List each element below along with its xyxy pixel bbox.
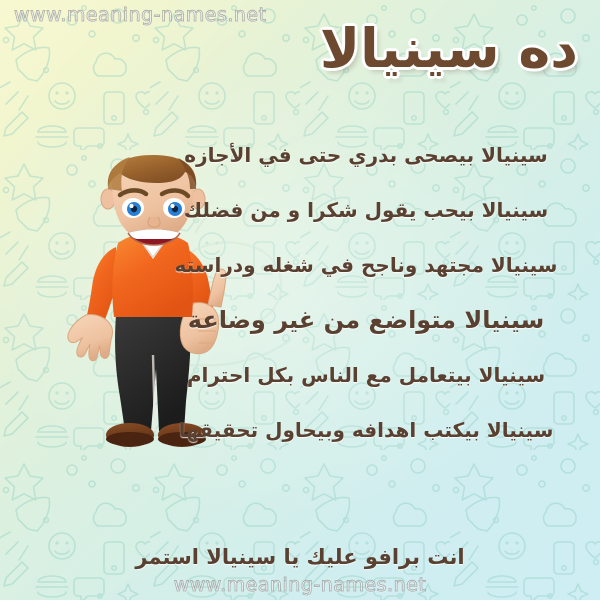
page-title: ده سينيالا bbox=[320, 18, 578, 80]
phrase-line: سينيالا بيصحى بدري حتى في الأجازه bbox=[150, 128, 582, 183]
watermark-top: www.meaning-names.net bbox=[14, 4, 267, 26]
phrase-line: سينيالا مجتهد وناجح في شغله ودراسته bbox=[150, 238, 582, 293]
phrase-list: سينيالا بيصحى بدري حتى في الأجازه سينيال… bbox=[150, 128, 582, 458]
name-meaning-poster: www.meaning-names.net ده سينيالا bbox=[0, 0, 600, 600]
phrase-line: سينيالا بيكتب اهدافه وبيحاول تحقيقها bbox=[150, 403, 582, 458]
closing-line: انت برافو عليك يا سينيالا استمر bbox=[0, 545, 600, 569]
phrase-line: سينيالا بيحب يقول شكرا و من فضلك bbox=[150, 183, 582, 238]
phrase-line: سينيالا بيتعامل مع الناس بكل احترام bbox=[150, 348, 582, 403]
phrase-line: سينيالا متواضع من غير وضاعة bbox=[150, 293, 582, 348]
watermark-bottom: www.meaning-names.net bbox=[174, 574, 427, 596]
